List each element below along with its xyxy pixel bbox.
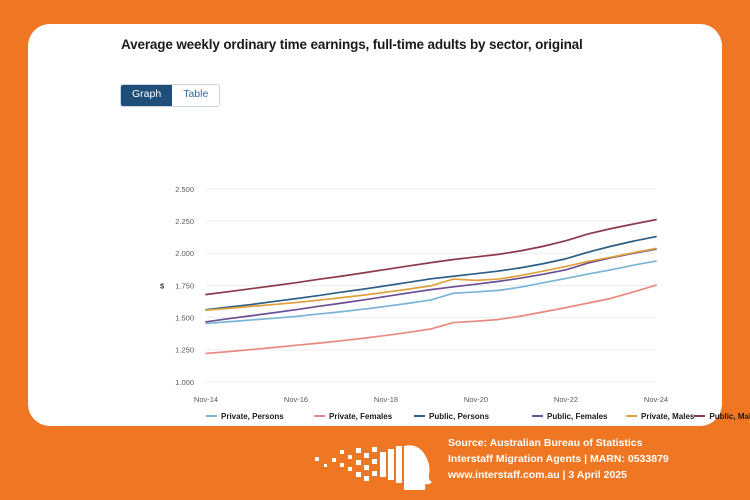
legend-item[interactable]: Public, Females [532,410,626,422]
chart-card: Average weekly ordinary time earnings, f… [28,24,722,426]
y-axis-tick-labels: 2.5002.2502.0001.7501.5001.2501.000 [175,185,194,387]
legend-item[interactable]: Private, Males [626,410,694,422]
legend-label: Public, Persons [429,412,489,421]
x-axis-tick-label: Nov-20 [464,395,488,404]
legend-swatch [626,415,637,418]
x-axis-tick-label: Nov-14 [194,395,218,404]
legend-label: Private, Persons [221,412,284,421]
legend-item[interactable]: Private, Females [314,410,414,422]
footer-source-line: Source: Australian Bureau of Statistics [448,436,669,452]
series-line-private-females [206,285,656,353]
y-axis-unit-label: $ [160,282,165,291]
legend-item[interactable]: Public, Males [694,410,750,422]
x-axis-tick-label: Nov-24 [644,395,668,404]
legend-label: Public, Females [547,412,607,421]
series-line-public-males [206,220,656,295]
line-chart: 2.5002.2502.0001.7501.5001.2501.000 Nov-… [28,134,722,426]
legend-swatch [206,415,217,418]
legend-item[interactable]: Private, Persons [206,410,314,422]
footer-text: Source: Australian Bureau of Statistics … [448,436,669,484]
chart-legend: Private, PersonsPrivate, FemalesPublic, … [206,410,626,422]
series-line-private-persons [206,261,656,323]
tab-table[interactable]: Table [172,85,219,106]
legend-label: Public, Males [709,412,750,421]
x-axis-tick-label: Nov-22 [554,395,578,404]
y-axis-tick-label: 1.500 [175,313,194,322]
y-axis-tick-label: 1.750 [175,281,194,290]
y-axis-tick-label: 2.500 [175,185,194,194]
tab-graph[interactable]: Graph [121,85,172,106]
legend-swatch [414,415,425,418]
page-title: Average weekly ordinary time earnings, f… [121,35,611,55]
y-axis-tick-label: 1.000 [175,378,194,387]
series-lines [206,220,656,354]
x-axis-tick-label: Nov-16 [284,395,308,404]
legend-swatch [532,415,543,418]
footer-banner: Source: Australian Bureau of Statistics … [0,432,750,500]
chart-plot-area: 2.5002.2502.0001.7501.5001.2501.000 Nov-… [28,134,722,426]
y-axis-tick-label: 1.250 [175,346,194,355]
footer-agency-line: Interstaff Migration Agents | MARN: 0533… [448,452,669,468]
legend-swatch [694,415,705,418]
legend-label: Private, Females [329,412,392,421]
legend-item[interactable]: Public, Persons [414,410,532,422]
view-toggle-group[interactable]: Graph Table [120,84,220,107]
y-axis-tick-label: 2.000 [175,249,194,258]
footer-website-line: www.interstaff.com.au | 3 April 2025 [448,468,669,484]
x-axis-tick-label: Nov-18 [374,395,398,404]
x-axis-tick-labels: Nov-14Nov-16Nov-18Nov-20Nov-22Nov-24 [194,395,668,404]
pixel-head-logo [312,438,438,490]
y-axis-tick-label: 2.250 [175,217,194,226]
legend-swatch [314,415,325,418]
legend-label: Private, Males [641,412,694,421]
